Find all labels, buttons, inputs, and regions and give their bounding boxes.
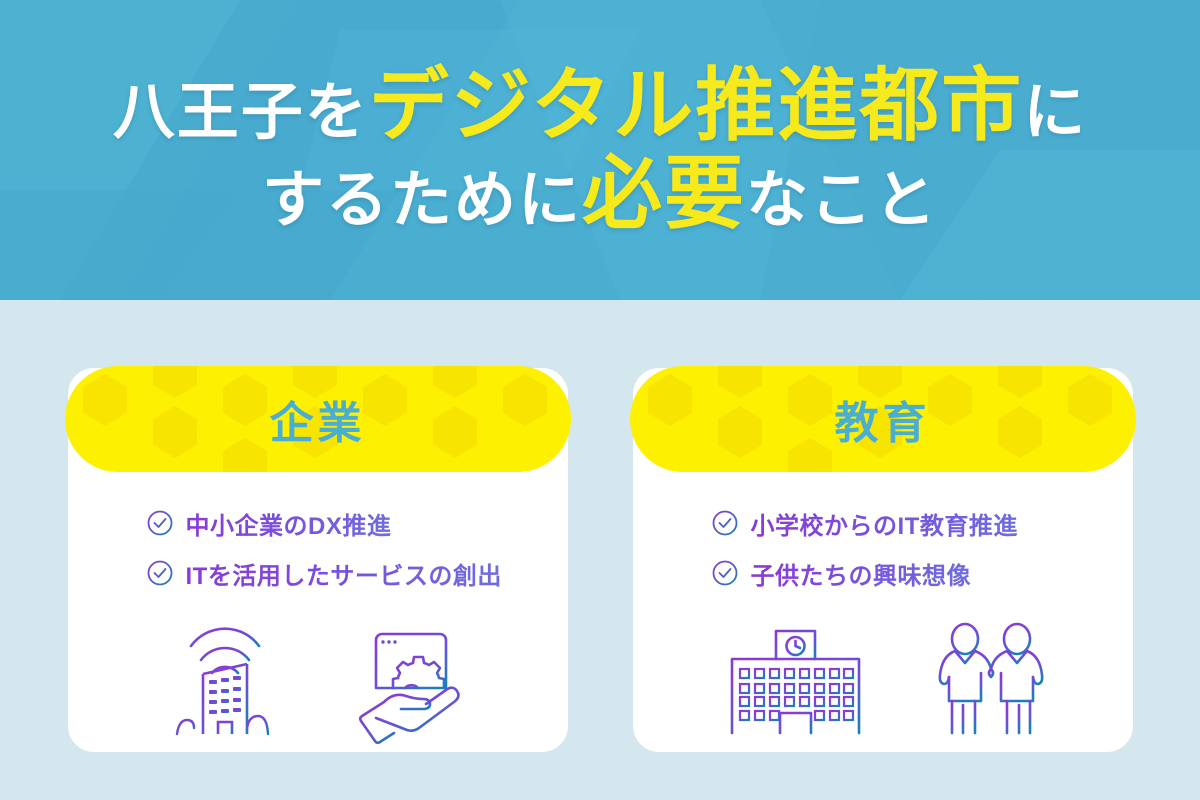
list-item: 小学校からのIT教育推進 (711, 506, 1133, 540)
title-segment-white-3: するために (262, 166, 582, 235)
card-education-header-pill: 教育 (630, 366, 1136, 472)
check-circle-icon (711, 509, 739, 537)
check-circle-icon (711, 559, 739, 587)
title-segment-highlight-2: 必要 (582, 149, 746, 238)
list-item-label: 子供たちの興味想像 (751, 556, 972, 591)
check-circle-icon (146, 559, 174, 587)
office-building-wifi-icon (163, 616, 288, 746)
school-building-clock-icon (718, 621, 873, 746)
card-education-icon-row (633, 606, 1133, 746)
title-line-1: 八王子をデジタル推進都市に (113, 66, 1087, 146)
title-segment-white-1: 八王子を (113, 78, 369, 147)
header-banner: 八王子をデジタル推進都市に するために必要なこと (0, 0, 1200, 300)
list-item-label: ITを活用したサービスの創出 (186, 556, 502, 591)
title-segment-highlight-1: デジタル推進都市 (369, 61, 1023, 150)
card-corporate-bullet-list: 中小企業のDX推進 ITを活用したサービスの創出 (68, 506, 568, 590)
check-circle-icon (146, 509, 174, 537)
list-item-label: 中小企業のDX推進 (186, 506, 392, 541)
list-item: 中小企業のDX推進 (146, 506, 568, 540)
card-corporate-header-pill: 企業 (65, 366, 571, 472)
card-education: 教育 小学校からのIT教育推進 (633, 368, 1133, 752)
card-corporate: 企業 中小企業のDX推進 (68, 368, 568, 752)
card-corporate-body: 中小企業のDX推進 ITを活用したサービスの創出 (68, 474, 568, 752)
card-corporate-title: 企業 (270, 387, 366, 451)
hand-holding-browser-gear-icon (348, 616, 473, 746)
list-item-label: 小学校からのIT教育推進 (751, 506, 1018, 541)
list-item: ITを活用したサービスの創出 (146, 556, 568, 590)
card-education-body: 小学校からのIT教育推進 子供たちの興味想像 (633, 474, 1133, 752)
card-education-title: 教育 (835, 387, 931, 451)
two-children-holding-hands-icon (933, 621, 1048, 746)
card-education-bullet-list: 小学校からのIT教育推進 子供たちの興味想像 (633, 506, 1133, 590)
card-corporate-icon-row (68, 606, 568, 746)
title-segment-white-4: なこと (746, 166, 938, 235)
list-item: 子供たちの興味想像 (711, 556, 1133, 590)
title-line-2: するために必要なこと (262, 154, 938, 234)
title-segment-white-2: に (1023, 78, 1087, 147)
cards-container: 企業 中小企業のDX推進 (0, 300, 1200, 800)
header-title: 八王子をデジタル推進都市に するために必要なこと (0, 0, 1200, 300)
